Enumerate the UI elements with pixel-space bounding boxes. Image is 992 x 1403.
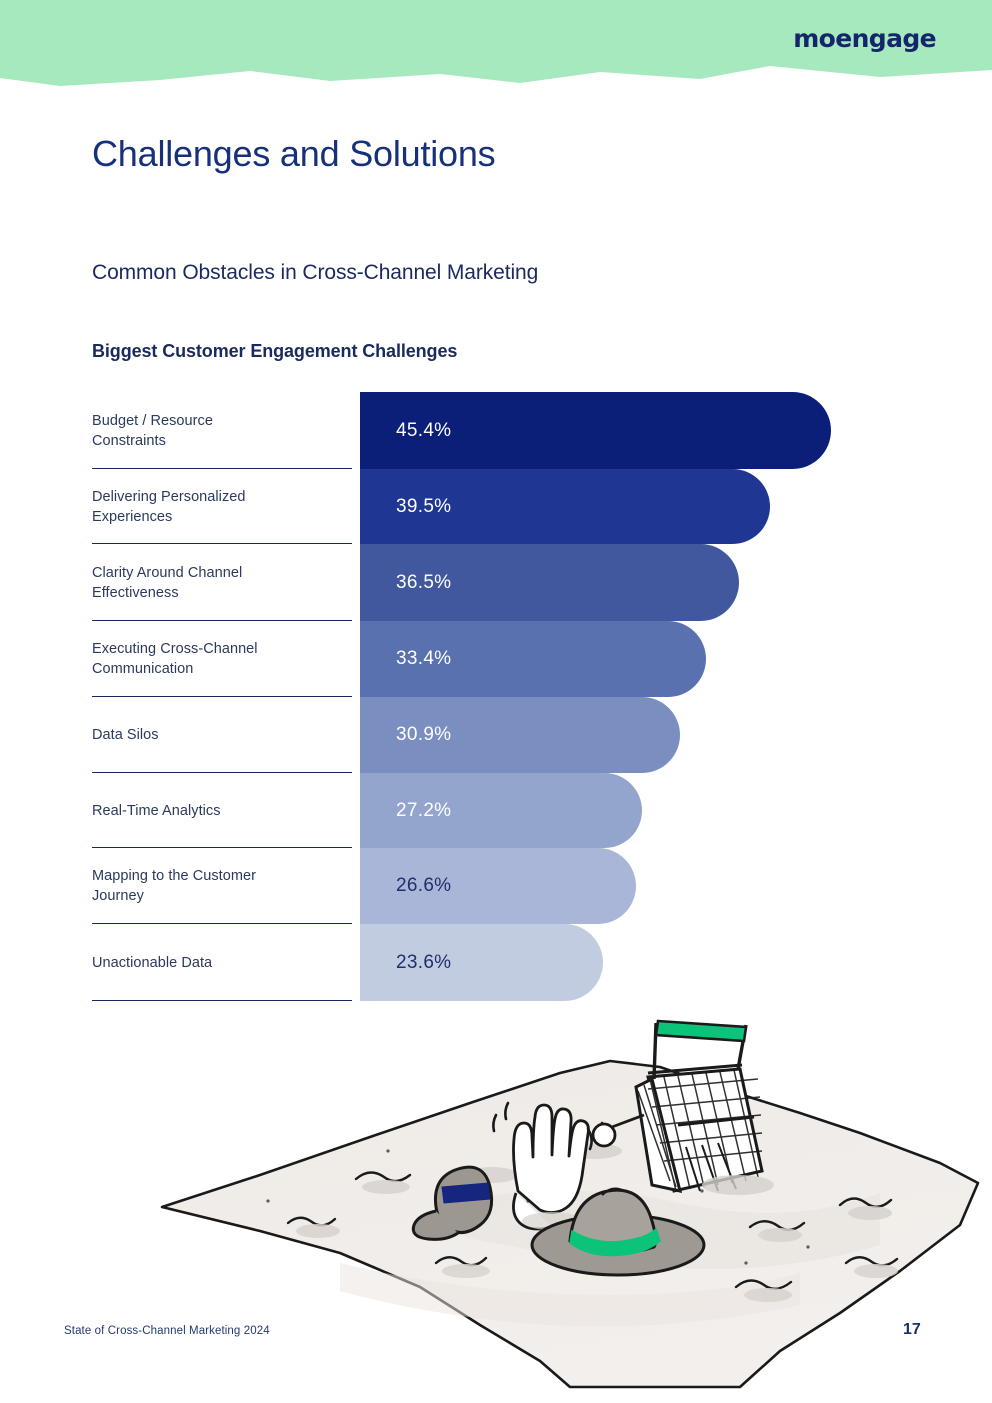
bar-value: 33.4% <box>396 648 451 670</box>
row-label-line2: Effectiveness <box>92 585 179 601</box>
table-row: Clarity Around Channel Effectiveness 36.… <box>92 544 892 621</box>
row-bar-cell: 26.6% <box>360 848 892 924</box>
bar: 27.2% <box>360 773 642 848</box>
row-label-cell: Real-Time Analytics <box>92 773 360 848</box>
row-bar-cell: 33.4% <box>360 621 892 697</box>
row-label: Delivering Personalized Experiences <box>92 487 245 527</box>
biggest-challenges-bar-chart: Budget / Resource Constraints 45.4% Deli… <box>92 392 892 1001</box>
cap-band-navy <box>442 1183 490 1203</box>
row-label: Clarity Around Channel Effectiveness <box>92 563 242 603</box>
moengage-logo: moengage <box>793 24 936 53</box>
row-bar-cell: 45.4% <box>360 392 892 469</box>
row-label-line1: Clarity Around Channel <box>92 565 242 581</box>
row-label: Unactionable Data <box>92 953 212 973</box>
bar-value: 27.2% <box>396 800 451 822</box>
row-label-line1: Data Silos <box>92 727 159 743</box>
row-label-cell: Data Silos <box>92 697 360 773</box>
page-title: Challenges and Solutions <box>92 133 496 175</box>
row-bar-cell: 23.6% <box>360 924 892 1001</box>
row-label-cell: Mapping to the Customer Journey <box>92 848 360 924</box>
page-number: 17 <box>903 1321 921 1339</box>
row-label: Mapping to the Customer Journey <box>92 866 256 906</box>
bar-value: 26.6% <box>396 875 451 897</box>
row-label-line1: Executing Cross-Channel <box>92 641 258 657</box>
bar: 30.9% <box>360 697 680 773</box>
row-label-cell: Delivering Personalized Experiences <box>92 469 360 544</box>
row-bar-cell: 27.2% <box>360 773 892 848</box>
row-label-line1: Delivering Personalized <box>92 489 245 505</box>
row-label-line2: Experiences <box>92 509 172 525</box>
bar-value: 23.6% <box>396 952 451 974</box>
bar-value: 39.5% <box>396 496 451 518</box>
table-row: Data Silos 30.9% <box>92 697 892 773</box>
table-row: Unactionable Data 23.6% <box>92 924 892 1001</box>
chart-title: Biggest Customer Engagement Challenges <box>92 341 457 362</box>
bar: 45.4% <box>360 392 831 469</box>
row-label-line1: Unactionable Data <box>92 955 212 971</box>
row-label-cell: Budget / Resource Constraints <box>92 392 360 469</box>
section-subtitle: Common Obstacles in Cross-Channel Market… <box>92 261 538 285</box>
row-label-cell: Clarity Around Channel Effectiveness <box>92 544 360 621</box>
row-label-cell: Unactionable Data <box>92 924 360 1001</box>
bar: 26.6% <box>360 848 636 924</box>
row-bar-cell: 36.5% <box>360 544 892 621</box>
cart-shadow <box>702 1175 774 1195</box>
row-label: Data Silos <box>92 725 159 745</box>
table-row: Delivering Personalized Experiences 39.5… <box>92 469 892 544</box>
bar: 23.6% <box>360 924 603 1001</box>
bar-value: 30.9% <box>396 724 451 746</box>
row-label-line2: Journey <box>92 888 144 904</box>
table-row: Budget / Resource Constraints 45.4% <box>92 392 892 469</box>
row-label: Real-Time Analytics <box>92 801 221 821</box>
row-label-line1: Mapping to the Customer <box>92 868 256 884</box>
row-bar-cell: 30.9% <box>360 697 892 773</box>
row-label-line2: Communication <box>92 661 193 677</box>
cart-handle-green <box>656 1021 746 1041</box>
shopping-cart-icon <box>636 1021 762 1191</box>
row-label-line1: Real-Time Analytics <box>92 803 221 819</box>
bar-value: 45.4% <box>396 420 451 442</box>
row-bar-cell: 39.5% <box>360 469 892 544</box>
bar: 39.5% <box>360 469 770 544</box>
row-label: Budget / Resource Constraints <box>92 411 213 451</box>
row-label-cell: Executing Cross-Channel Communication <box>92 621 360 697</box>
bar: 36.5% <box>360 544 739 621</box>
table-row: Executing Cross-Channel Communication 33… <box>92 621 892 697</box>
bar: 33.4% <box>360 621 706 697</box>
table-row: Real-Time Analytics 27.2% <box>92 773 892 848</box>
footer-note: State of Cross-Channel Marketing 2024 <box>64 1325 270 1337</box>
row-label-line2: Constraints <box>92 433 166 449</box>
row-label: Executing Cross-Channel Communication <box>92 639 258 679</box>
row-label-line1: Budget / Resource <box>92 413 213 429</box>
bar-value: 36.5% <box>396 572 451 594</box>
table-row: Mapping to the Customer Journey 26.6% <box>92 848 892 924</box>
